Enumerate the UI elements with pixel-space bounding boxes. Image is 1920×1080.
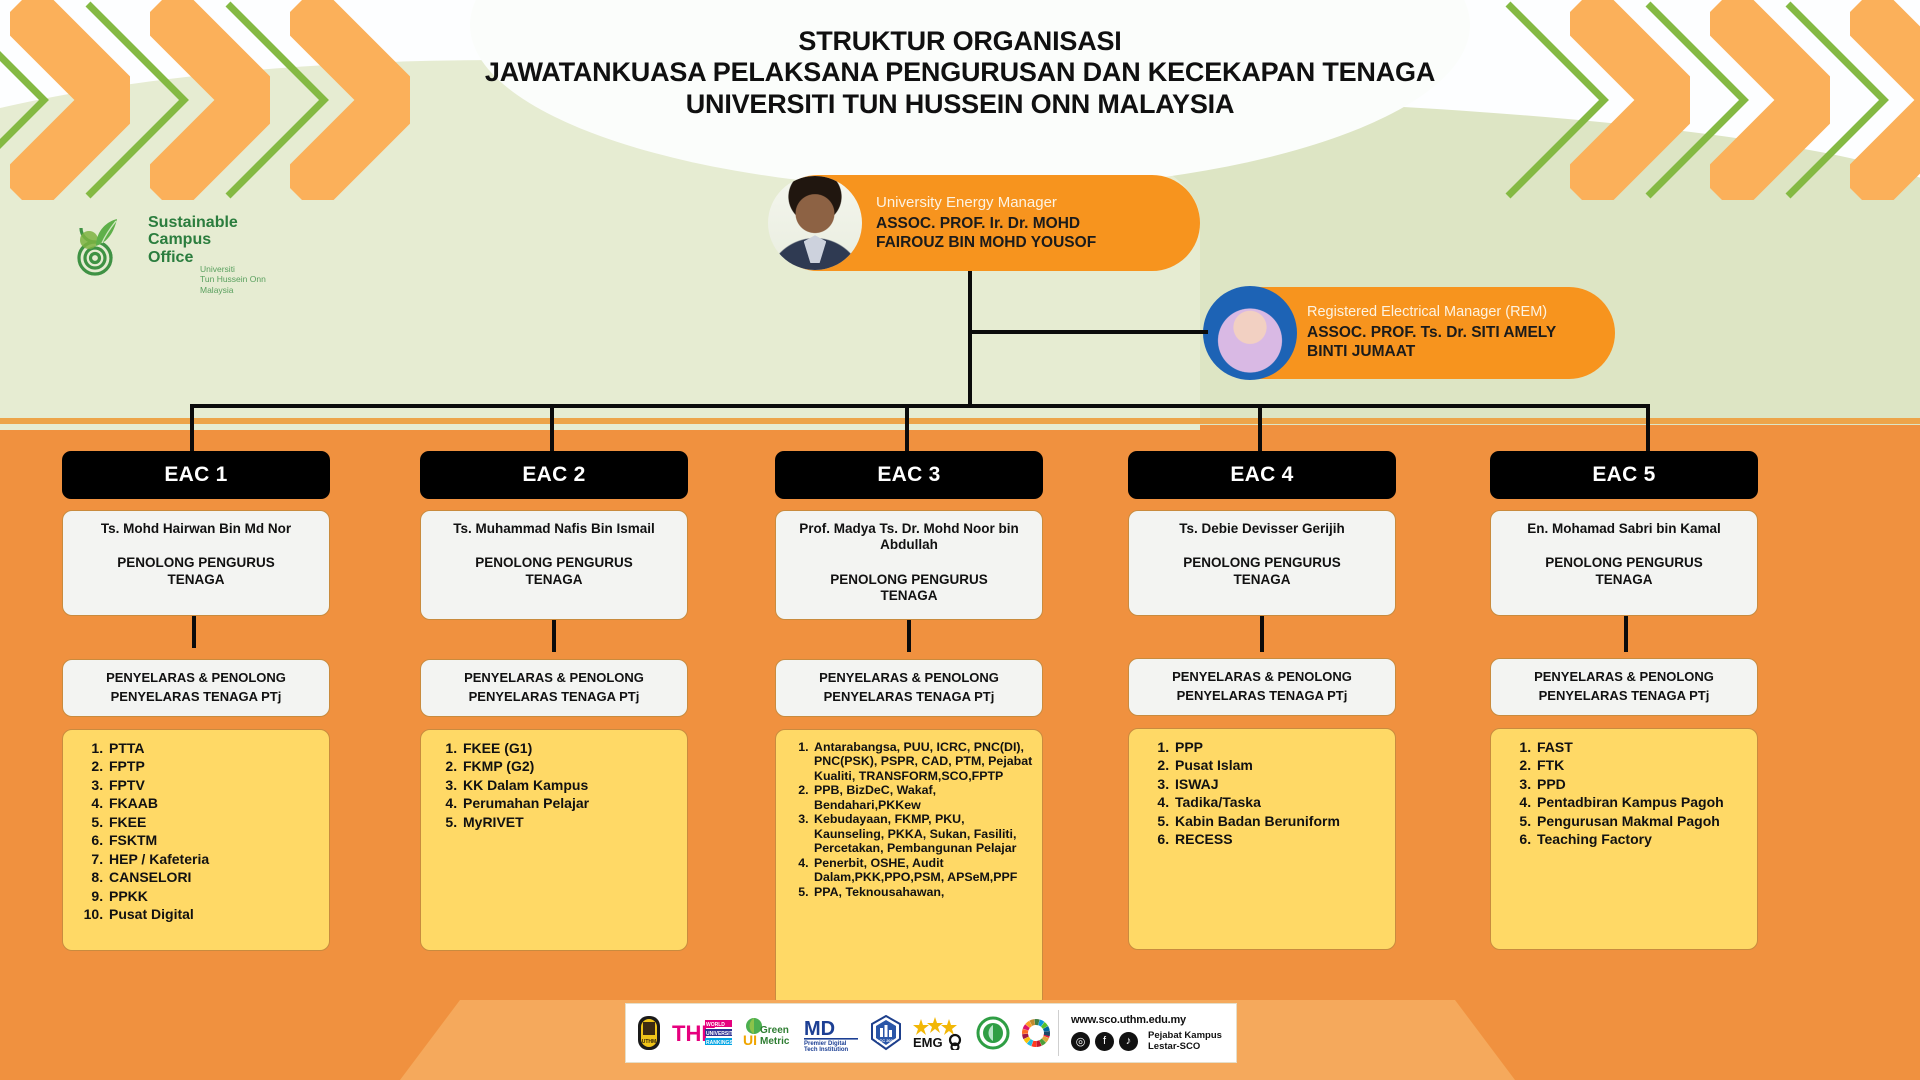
coordinator-header-line-1: PENYELARAS & PENOLONG bbox=[1497, 668, 1751, 687]
list-item: FKMP (G2) bbox=[461, 758, 679, 776]
assistant-manager-title-line-2: TENAGA bbox=[1139, 572, 1385, 588]
coordinator-header-card-2[interactable]: PENYELARAS & PENOLONG PENYELARAS TENAGA … bbox=[420, 659, 688, 717]
list-item: PPB, BizDeC, Wakaf, Bendahari,PKKew bbox=[812, 783, 1034, 812]
coordinator-header-line-2: PENYELARAS TENAGA PTj bbox=[427, 688, 681, 707]
the-world-university-rankings-logo-icon: THE WORLD UNIVERSITY RANKINGS bbox=[671, 1015, 733, 1051]
tiktok-icon[interactable]: ♪ bbox=[1119, 1032, 1138, 1051]
leader-name-line-2: FAIROUZ BIN MOHD YOUSOF bbox=[876, 234, 1096, 253]
unit-list-5: FAST FTK PPD Pentadbiran Kampus Pagoh Pe… bbox=[1501, 739, 1749, 849]
coordinator-header-card-4[interactable]: PENYELARAS & PENOLONG PENYELARAS TENAGA … bbox=[1128, 658, 1396, 716]
svg-text:WORLD: WORLD bbox=[706, 1022, 725, 1028]
connector-uem-down bbox=[968, 334, 972, 408]
coordinator-header-line-2: PENYELARAS TENAGA PTj bbox=[782, 688, 1036, 707]
svg-text:UNIVERSITY: UNIVERSITY bbox=[706, 1031, 733, 1037]
list-item: FSKTM bbox=[107, 832, 321, 850]
title-line-1: STRUKTUR ORGANISASI bbox=[360, 26, 1560, 57]
list-item: KK Dalam Kampus bbox=[461, 777, 679, 795]
assistant-manager-title-line-1: PENOLONG PENGURUS bbox=[431, 555, 677, 571]
facebook-icon[interactable]: f bbox=[1095, 1032, 1114, 1051]
social-links: ◎ f ♪ Pejabat Kampus Lestar-SCO bbox=[1071, 1030, 1236, 1052]
ui-greenmetric-logo-icon: UI Green Metric bbox=[742, 1015, 794, 1051]
list-item: FKAAB bbox=[107, 795, 321, 813]
lcc-2030-challenge-logo-icon: LCC 2030 bbox=[870, 1015, 902, 1051]
unit-list-card-4[interactable]: PPP Pusat Islam ISWAJ Tadika/Taska Kabin… bbox=[1128, 728, 1396, 950]
list-item: FKEE bbox=[107, 814, 321, 832]
assistant-manager-name: En. Mohamad Sabri bin Kamal bbox=[1501, 521, 1747, 537]
list-item: Perumahan Pelajar bbox=[461, 795, 679, 813]
md-premier-digital-tech-institution-logo-icon: MD Premier Digital Tech Institution bbox=[803, 1015, 861, 1051]
unit-list-card-3[interactable]: Antarabangsa, PUU, ICRC, PNC(DI), PNC(PS… bbox=[775, 729, 1043, 1009]
unit-list-card-2[interactable]: FKEE (G1) FKMP (G2) KK Dalam Kampus Peru… bbox=[420, 729, 688, 951]
assistant-manager-card-4[interactable]: Ts. Debie Devisser Gerijih PENOLONG PENG… bbox=[1128, 510, 1396, 616]
svg-text:MD: MD bbox=[804, 1018, 835, 1040]
brand-subtext: Universiti Tun Hussein Onn Malaysia bbox=[200, 264, 266, 295]
list-item: Pentadbiran Kampus Pagoh bbox=[1535, 794, 1749, 812]
assistant-manager-card-1[interactable]: Ts. Mohd Hairwan Bin Md Nor PENOLONG PEN… bbox=[62, 510, 330, 616]
assistant-manager-card-5[interactable]: En. Mohamad Sabri bin Kamal PENOLONG PEN… bbox=[1490, 510, 1758, 616]
svg-text:Tech Institution: Tech Institution bbox=[804, 1047, 849, 1051]
brand-sub-3: Malaysia bbox=[200, 285, 266, 295]
unit-list-4: PPP Pusat Islam ISWAJ Tadika/Taska Kabin… bbox=[1139, 739, 1387, 849]
brand-line-2: Campus bbox=[148, 231, 238, 248]
assistant-manager-title-line-1: PENOLONG PENGURUS bbox=[786, 572, 1032, 588]
list-item: FAST bbox=[1535, 739, 1749, 757]
avatar-university-energy-manager bbox=[768, 176, 862, 270]
assistant-manager-title-line-2: TENAGA bbox=[1501, 572, 1747, 588]
title-line-2: JAWATANKUASA PELAKSANA PENGURUSAN DAN KE… bbox=[360, 57, 1560, 88]
eac-header-1[interactable]: EAC 1 bbox=[62, 451, 330, 499]
coordinator-header-line-2: PENYELARAS TENAGA PTj bbox=[1497, 687, 1751, 706]
list-item: PPKK bbox=[107, 888, 321, 906]
assistant-manager-name: Ts. Debie Devisser Gerijih bbox=[1139, 521, 1385, 537]
list-item: FPTV bbox=[107, 777, 321, 795]
coordinator-header-line-2: PENYELARAS TENAGA PTj bbox=[69, 688, 323, 707]
leader-role-label: Registered Electrical Manager (REM) bbox=[1307, 304, 1556, 321]
eac-header-4[interactable]: EAC 4 bbox=[1128, 451, 1396, 499]
coordinator-header-card-5[interactable]: PENYELARAS & PENOLONG PENYELARAS TENAGA … bbox=[1490, 658, 1758, 716]
list-item: FPTP bbox=[107, 758, 321, 776]
unit-list-2: FKEE (G1) FKMP (G2) KK Dalam Kampus Peru… bbox=[431, 740, 679, 832]
list-item: ISWAJ bbox=[1173, 776, 1387, 794]
list-item: PPA, Teknousahawan, bbox=[812, 885, 1034, 900]
footer-contact: www.sco.uthm.edu.my ◎ f ♪ Pejabat Kampus… bbox=[1059, 1014, 1236, 1052]
leader-name-line-2: BINTI JUMAAT bbox=[1307, 343, 1556, 362]
eac-header-5[interactable]: EAC 5 bbox=[1490, 451, 1758, 499]
connector-drop-eac5 bbox=[1646, 404, 1650, 452]
assistant-manager-name: Ts. Muhammad Nafis Bin Ismail bbox=[431, 521, 677, 537]
assistant-manager-title-line-1: PENOLONG PENGURUS bbox=[73, 555, 319, 571]
brand-sub-2: Tun Hussein Onn bbox=[200, 274, 266, 284]
connector-uem-vertical bbox=[968, 271, 972, 333]
avatar-registered-electrical-manager bbox=[1203, 286, 1297, 380]
website-url[interactable]: www.sco.uthm.edu.my bbox=[1071, 1014, 1236, 1026]
chevron-icon bbox=[1850, 0, 1920, 200]
list-item: FKEE (G1) bbox=[461, 740, 679, 758]
connector-drop-eac1 bbox=[190, 404, 194, 452]
connector-drop-eac2 bbox=[550, 404, 554, 452]
list-item: Penerbit, OSHE, Audit Dalam,PKK,PPO,PSM,… bbox=[812, 856, 1034, 885]
list-item: MyRIVET bbox=[461, 814, 679, 832]
svg-text:EMG: EMG bbox=[913, 1035, 943, 1050]
assistant-manager-title-line-2: TENAGA bbox=[431, 572, 677, 588]
brand-sub-1: Universiti bbox=[200, 264, 266, 274]
leader-name-line-1: ASSOC. PROF. Ts. Dr. SITI AMELY bbox=[1307, 324, 1556, 343]
poster-canvas: STRUKTUR ORGANISASI JAWATANKUASA PELAKSA… bbox=[0, 0, 1920, 1080]
svg-text:LCC 2030: LCC 2030 bbox=[877, 1038, 896, 1043]
leader-card-registered-electrical-manager[interactable]: Registered Electrical Manager (REM) ASSO… bbox=[1205, 287, 1615, 379]
coordinator-header-line-1: PENYELARAS & PENOLONG bbox=[69, 669, 323, 688]
connector-drop-eac4 bbox=[1258, 404, 1262, 452]
unit-list-3: Antarabangsa, PUU, ICRC, PNC(DI), PNC(PS… bbox=[786, 740, 1034, 900]
list-item: Tadika/Taska bbox=[1173, 794, 1387, 812]
coordinator-header-line-1: PENYELARAS & PENOLONG bbox=[782, 669, 1036, 688]
svg-text:UI: UI bbox=[743, 1032, 757, 1048]
leader-role-label: University Energy Manager bbox=[876, 194, 1096, 212]
brand-wordmark: Sustainable Campus Office bbox=[148, 214, 238, 266]
coordinator-header-line-1: PENYELARAS & PENOLONG bbox=[427, 669, 681, 688]
coordinator-header-card-3[interactable]: PENYELARAS & PENOLONG PENYELARAS TENAGA … bbox=[775, 659, 1043, 717]
list-item: FTK bbox=[1535, 757, 1749, 775]
list-item: PPP bbox=[1173, 739, 1387, 757]
list-item: CANSELORI bbox=[107, 869, 321, 887]
column-eac-5: EAC 5 En. Mohamad Sabri bin Kamal PENOLO… bbox=[1490, 451, 1758, 950]
sdg-wheel-logo-icon bbox=[1019, 1015, 1053, 1051]
partner-logo-strip: UTHM THE WORLD UNIVERSITY RANKINGS UI bbox=[626, 1015, 1058, 1051]
list-item: RECESS bbox=[1173, 831, 1387, 849]
svg-text:Metric: Metric bbox=[760, 1036, 790, 1047]
social-handle-line-1: Pejabat Kampus bbox=[1148, 1030, 1222, 1041]
unit-list-1: PTTA FPTP FPTV FKAAB FKEE FSKTM HEP / Ka… bbox=[73, 740, 321, 924]
leader-card-university-energy-manager[interactable]: University Energy Manager ASSOC. PROF. I… bbox=[770, 175, 1200, 271]
connector-drop-eac3 bbox=[905, 404, 909, 452]
list-item: Kebudayaan, FKMP, PKU, Kaunseling, PKKA,… bbox=[812, 812, 1034, 856]
list-item: Kabin Badan Beruniform bbox=[1173, 813, 1387, 831]
unit-list-card-1[interactable]: PTTA FPTP FPTV FKAAB FKEE FSKTM HEP / Ka… bbox=[62, 729, 330, 951]
column-eac-1: EAC 1 Ts. Mohd Hairwan Bin Md Nor PENOLO… bbox=[62, 451, 330, 951]
list-item: Pusat Islam bbox=[1173, 757, 1387, 775]
social-handle: Pejabat Kampus Lestar-SCO bbox=[1148, 1030, 1222, 1052]
coordinator-header-card-1[interactable]: PENYELARAS & PENOLONG PENYELARAS TENAGA … bbox=[62, 659, 330, 717]
background-divider bbox=[0, 418, 1920, 424]
unit-list-card-5[interactable]: FAST FTK PPD Pentadbiran Kampus Pagoh Pe… bbox=[1490, 728, 1758, 950]
assistant-manager-title-line-2: TENAGA bbox=[786, 588, 1032, 604]
coordinator-header-line-1: PENYELARAS & PENOLONG bbox=[1135, 668, 1389, 687]
list-item: Pusat Digital bbox=[107, 906, 321, 924]
column-eac-4: EAC 4 Ts. Debie Devisser Gerijih PENOLON… bbox=[1128, 451, 1396, 950]
plan-sds-logo-icon bbox=[976, 1015, 1010, 1051]
assistant-manager-card-2[interactable]: Ts. Muhammad Nafis Bin Ismail PENOLONG P… bbox=[420, 510, 688, 620]
list-item: PTTA bbox=[107, 740, 321, 758]
assistant-manager-title-line-1: PENOLONG PENGURUS bbox=[1139, 555, 1385, 571]
uthm-crest-logo-icon: UTHM bbox=[636, 1015, 662, 1051]
svg-text:Green: Green bbox=[760, 1025, 789, 1036]
list-item: HEP / Kafeteria bbox=[107, 851, 321, 869]
svg-text:RANKINGS: RANKINGS bbox=[706, 1040, 733, 1046]
assistant-manager-name: Ts. Mohd Hairwan Bin Md Nor bbox=[73, 521, 319, 537]
list-item: PPD bbox=[1535, 776, 1749, 794]
assistant-manager-title-line-2: TENAGA bbox=[73, 572, 319, 588]
page-title: STRUKTUR ORGANISASI JAWATANKUASA PELAKSA… bbox=[360, 26, 1560, 120]
title-line-3: UNIVERSITI TUN HUSSEIN ONN MALAYSIA bbox=[360, 89, 1560, 120]
assistant-manager-card-3[interactable]: Prof. Madya Ts. Dr. Mohd Noor bin Abdull… bbox=[775, 510, 1043, 620]
list-item: Antarabangsa, PUU, ICRC, PNC(DI), PNC(PS… bbox=[812, 740, 1034, 784]
connector-horizontal-bus bbox=[190, 404, 1650, 408]
column-eac-3: EAC 3 Prof. Madya Ts. Dr. Mohd Noor bin … bbox=[775, 451, 1043, 1009]
footer-bar: UTHM THE WORLD UNIVERSITY RANKINGS UI bbox=[625, 1003, 1237, 1063]
assistant-manager-name: Prof. Madya Ts. Dr. Mohd Noor bin Abdull… bbox=[786, 521, 1032, 554]
svg-text:UTHM: UTHM bbox=[642, 1039, 656, 1045]
list-item: Teaching Factory bbox=[1535, 831, 1749, 849]
instagram-icon[interactable]: ◎ bbox=[1071, 1032, 1090, 1051]
list-item: Pengurusan Makmal Pagoh bbox=[1535, 813, 1749, 831]
social-handle-line-2: Lestar-SCO bbox=[1148, 1041, 1222, 1052]
connector-uem-to-rem bbox=[968, 330, 1208, 334]
assistant-manager-title-line-1: PENOLONG PENGURUS bbox=[1501, 555, 1747, 571]
eac-header-2[interactable]: EAC 2 bbox=[420, 451, 688, 499]
eac-header-3[interactable]: EAC 3 bbox=[775, 451, 1043, 499]
leader-name-line-1: ASSOC. PROF. Ir. Dr. MOHD bbox=[876, 215, 1096, 234]
coordinator-header-line-2: PENYELARAS TENAGA PTj bbox=[1135, 687, 1389, 706]
brand-line-1: Sustainable bbox=[148, 214, 238, 231]
emgs-logo-icon: EMG bbox=[911, 1015, 967, 1051]
column-eac-2: EAC 2 Ts. Muhammad Nafis Bin Ismail PENO… bbox=[420, 451, 688, 951]
